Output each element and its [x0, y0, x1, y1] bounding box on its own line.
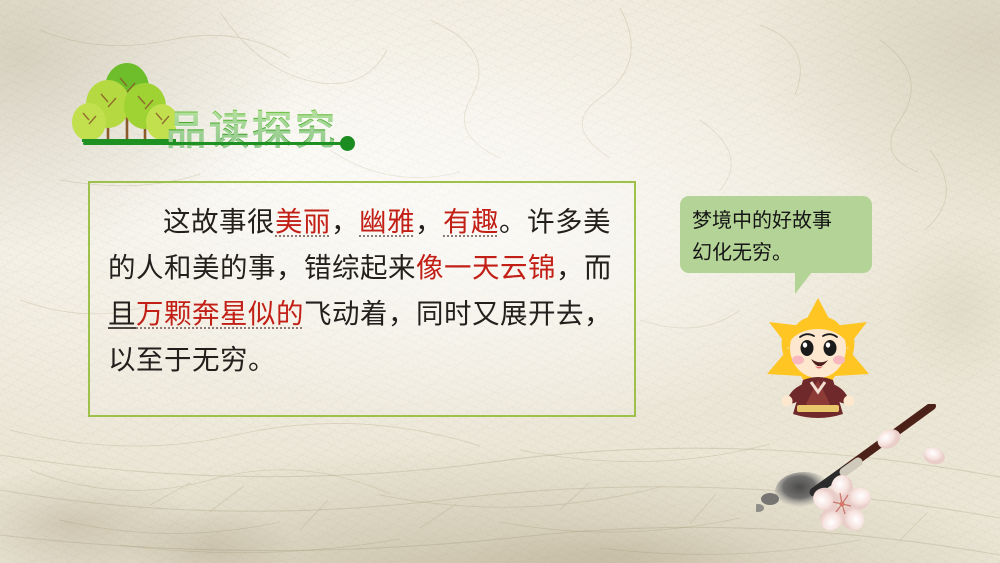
speech-bubble-text: 梦境中的好故事幻化无穷。 — [680, 196, 872, 273]
quote-line: 这故事很美丽，幽雅，有趣。许多美 — [108, 199, 622, 245]
quote-plain: 飞动着，同时又展开去， — [304, 298, 612, 330]
quote-plain: 的人和美的事，错综起来 — [108, 252, 416, 284]
quote-plain: 以至于无穷。 — [108, 344, 276, 376]
quote-line: 以至于无穷。 — [108, 337, 622, 383]
title-rule-end-dot — [340, 136, 355, 151]
speech-bubble: 梦境中的好故事幻化无穷。 — [680, 196, 872, 273]
title-underline-rule — [83, 142, 345, 145]
green-trees-logo-icon — [72, 62, 176, 148]
calligraphy-brush-illustration — [756, 404, 1000, 563]
quote-text-box: 这故事很美丽，幽雅，有趣。许多美的人和美的事，错综起来像一天云锦，而且万颗奔星似… — [88, 181, 636, 417]
quote-emphasis-red-dotted: 幽雅 — [359, 206, 415, 238]
speech-bubble-line: 梦境中的好故事 — [692, 204, 862, 236]
speech-bubble-tail — [795, 272, 826, 294]
quote-emphasis-red-dotted: 美丽 — [275, 206, 331, 238]
quote-plain: ，而 — [556, 252, 612, 284]
speech-bubble-line: 幻化无穷。 — [692, 236, 862, 268]
quote-emphasis-red: 像一天云锦 — [416, 252, 556, 284]
quote-plain: ， — [331, 206, 359, 238]
quote-underlined: 且 — [108, 298, 136, 330]
quote-plain: ， — [415, 206, 443, 238]
slide-canvas: 品读探究 这故事很美丽，幽雅，有趣。许多美的人和美的事，错综起来像一天云锦，而且… — [0, 0, 1000, 563]
page-title: 品读探究 — [166, 98, 338, 156]
quote-plain: 。许多美 — [499, 206, 611, 238]
quote-emphasis-red-dotted: 万颗奔星似的 — [136, 298, 304, 330]
quote-line: 且万颗奔星似的飞动着，同时又展开去， — [108, 291, 622, 337]
slide-header: 品读探究 — [0, 0, 520, 165]
quote-emphasis-red-dotted: 有趣 — [443, 206, 499, 238]
quote-line: 的人和美的事，错综起来像一天云锦，而 — [108, 245, 622, 291]
quote-paragraph: 这故事很美丽，幽雅，有趣。许多美的人和美的事，错综起来像一天云锦，而且万颗奔星似… — [90, 183, 634, 415]
quote-plain: 这故事很 — [163, 206, 275, 238]
